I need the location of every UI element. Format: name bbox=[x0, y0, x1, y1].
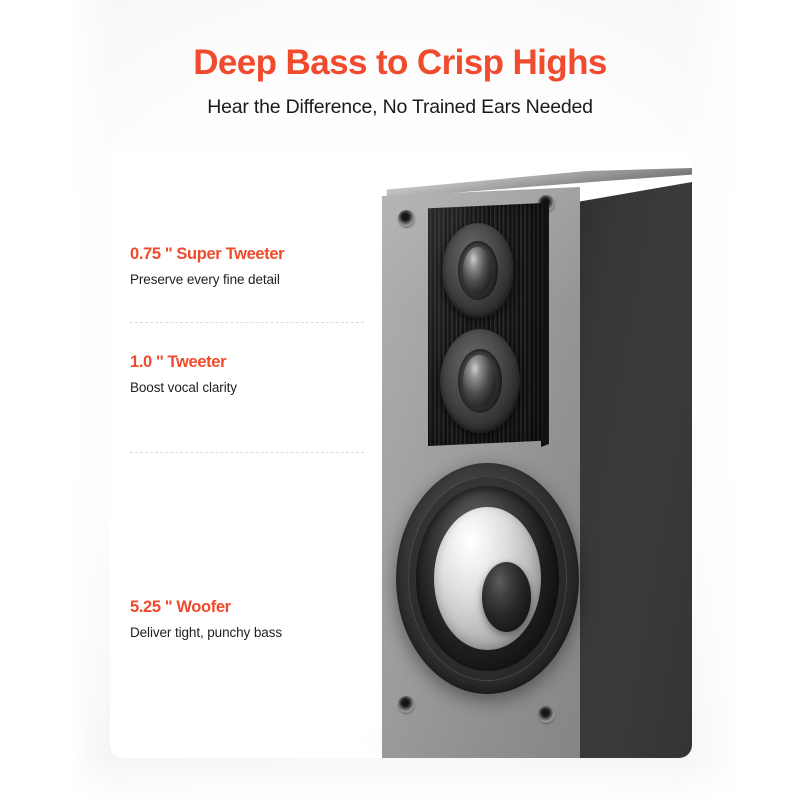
feature-title: 1.0 '' Tweeter bbox=[130, 352, 384, 373]
feature-description: Preserve every fine detail bbox=[130, 271, 384, 289]
screw-icon bbox=[398, 696, 415, 713]
ribbed-baffle-plate bbox=[428, 203, 544, 446]
feature-description: Deliver tight, punchy bass bbox=[130, 624, 384, 642]
screw-icon bbox=[398, 210, 415, 227]
page-edge-left-fade bbox=[0, 0, 110, 800]
page-background: Deep Bass to Crisp Highs Hear the Differ… bbox=[0, 0, 800, 800]
feature-item-woofer: 5.25 '' Woofer Deliver tight, punchy bas… bbox=[130, 597, 384, 642]
screw-icon bbox=[538, 706, 555, 723]
feature-item-tweeter: 1.0 '' Tweeter Boost vocal clarity bbox=[130, 352, 384, 397]
woofer-driver bbox=[396, 463, 579, 694]
feature-list: 0.75 '' Super Tweeter Preserve every fin… bbox=[130, 150, 384, 758]
page-edge-bottom-fade bbox=[0, 756, 800, 800]
feature-card: 0.75 '' Super Tweeter Preserve every fin… bbox=[110, 150, 692, 758]
page-edge-right-fade bbox=[680, 0, 800, 800]
tweeter-driver bbox=[440, 329, 520, 433]
feature-item-super-tweeter: 0.75 '' Super Tweeter Preserve every fin… bbox=[130, 244, 384, 289]
header: Deep Bass to Crisp Highs Hear the Differ… bbox=[0, 0, 800, 119]
super-tweeter-driver bbox=[442, 223, 514, 318]
cabinet-side-panel bbox=[579, 182, 692, 758]
page-subtitle: Hear the Difference, No Trained Ears Nee… bbox=[0, 95, 800, 119]
feature-title: 0.75 '' Super Tweeter bbox=[130, 244, 384, 265]
feature-description: Boost vocal clarity bbox=[130, 379, 384, 397]
page-title: Deep Bass to Crisp Highs bbox=[0, 42, 800, 84]
speaker-illustration bbox=[372, 160, 692, 758]
feature-title: 5.25 '' Woofer bbox=[130, 597, 384, 618]
woofer-dust-cap bbox=[482, 562, 531, 631]
